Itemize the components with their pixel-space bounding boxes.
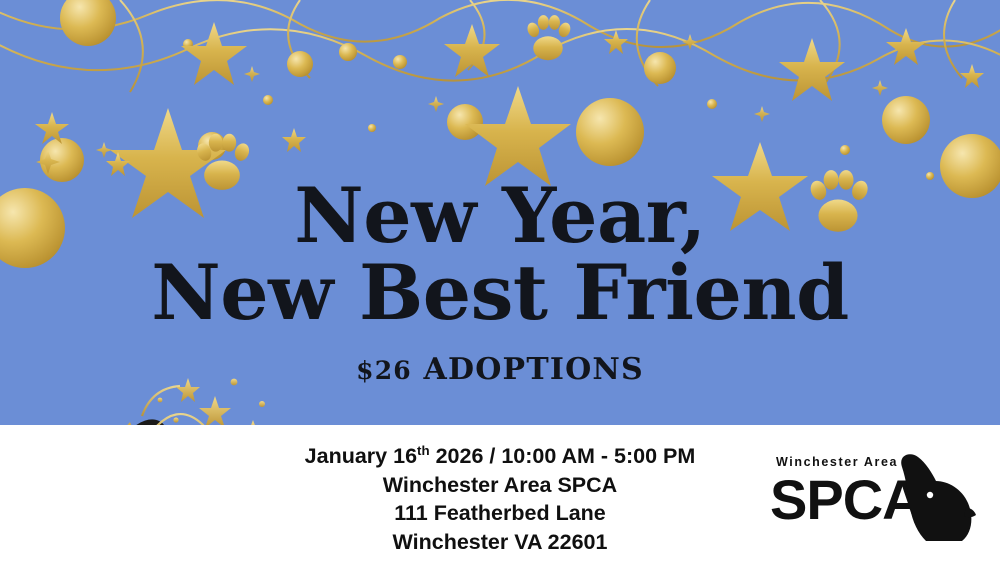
spca-logo: Winchester Area SPCA	[770, 455, 982, 551]
dog-head-icon	[896, 451, 982, 543]
event-date-ordinal: th	[417, 443, 430, 458]
event-datetime-line: January 16th 2026 / 10:00 AM - 5:00 PM	[180, 442, 820, 471]
venue-street: 111 Featherbed Lane	[180, 499, 820, 528]
event-flyer: New Year, New Best Friend $26 ADOPTIONS …	[0, 0, 1000, 563]
event-details: January 16th 2026 / 10:00 AM - 5:00 PM W…	[180, 442, 820, 557]
venue-name: Winchester Area SPCA	[180, 471, 820, 500]
headline-block: New Year, New Best Friend $26 ADOPTIONS	[0, 180, 1000, 387]
event-year-time: 2026 / 10:00 AM - 5:00 PM	[430, 444, 696, 468]
party-horn-icon	[10, 360, 290, 425]
headline-line-2: New Best Friend	[0, 257, 1000, 330]
headline-line-1: New Year,	[0, 180, 1000, 253]
event-date: January 16	[305, 444, 417, 468]
adoption-price-suffix: ADOPTIONS	[412, 352, 644, 387]
venue-city-state-zip: Winchester VA 22601	[180, 528, 820, 557]
adoption-price: $26	[356, 356, 412, 385]
